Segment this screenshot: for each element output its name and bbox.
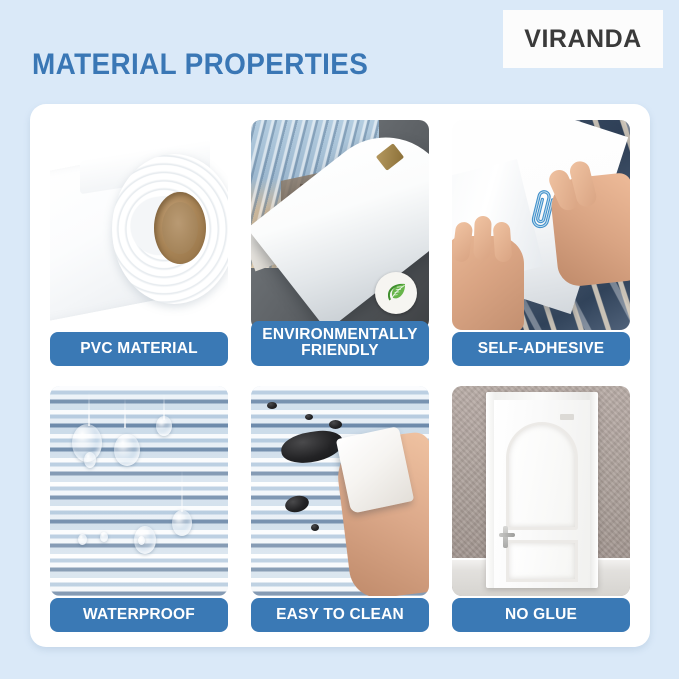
brand-logo-box: VIRANDA xyxy=(503,10,663,68)
pvc-core-inner-shape xyxy=(162,202,198,254)
water-droplet xyxy=(156,416,172,436)
feature-grid: PVC MATERIAL xyxy=(50,120,630,632)
feature-label-environmentally-friendly: ENVIRONMENTALLY FRIENDLY xyxy=(251,321,429,366)
feature-card-waterproof[interactable]: WATERPROOF xyxy=(50,386,228,632)
feature-label-self-adhesive: SELF-ADHESIVE xyxy=(452,332,630,366)
black-stain xyxy=(305,414,313,420)
feature-card-pvc-material[interactable]: PVC MATERIAL xyxy=(50,120,228,366)
droplet-trail xyxy=(88,392,90,426)
water-droplet xyxy=(78,534,87,545)
water-droplet xyxy=(100,532,108,542)
black-stain xyxy=(267,402,277,409)
feature-label-pvc-material: PVC MATERIAL xyxy=(50,332,228,366)
feature-card-easy-to-clean[interactable]: EASY TO CLEAN xyxy=(251,386,429,632)
easy-to-clean-image xyxy=(251,386,429,596)
feature-card-environmentally-friendly[interactable]: ENVIRONMENTALLY FRIENDLY xyxy=(251,120,429,366)
right-hand-shape xyxy=(549,172,630,288)
door-panel-lower-shape xyxy=(506,540,578,582)
feature-label-no-glue: NO GLUE xyxy=(452,598,630,632)
page-title: MATERIAL PROPERTIES xyxy=(32,48,368,82)
finger-shape xyxy=(473,216,492,261)
eco-wallpaper-image xyxy=(251,120,429,330)
door-handle-plate xyxy=(503,526,508,548)
door-sticker-shape xyxy=(560,414,574,420)
door-panel-upper-shape xyxy=(506,422,578,530)
feature-label-line-2: FRIENDLY xyxy=(301,342,379,359)
door-leaf-shape xyxy=(494,400,590,588)
feature-card-self-adhesive[interactable]: SELF-ADHESIVE xyxy=(452,120,630,366)
droplet-trail xyxy=(181,468,183,512)
self-adhesive-image xyxy=(452,120,630,330)
black-stain xyxy=(329,420,342,429)
feature-label-easy-to-clean: EASY TO CLEAN xyxy=(251,598,429,632)
feature-panel: PVC MATERIAL xyxy=(30,104,650,647)
feature-label-waterproof: WATERPROOF xyxy=(50,598,228,632)
waterproof-image xyxy=(50,386,228,596)
water-droplet xyxy=(172,510,192,536)
black-stain xyxy=(311,524,319,531)
feature-card-no-glue[interactable]: NO GLUE xyxy=(452,386,630,632)
water-droplet xyxy=(138,536,145,545)
leaf-icon xyxy=(375,272,417,314)
door-frame-shape xyxy=(486,392,598,588)
water-droplet xyxy=(114,434,140,466)
water-droplet xyxy=(84,452,96,468)
left-hand-shape xyxy=(452,236,524,330)
droplet-trail xyxy=(124,398,126,428)
no-glue-image xyxy=(452,386,630,596)
finger-shape xyxy=(493,221,513,262)
feature-label-line-1: ENVIRONMENTALLY xyxy=(262,326,417,343)
pvc-roll-image xyxy=(50,120,228,330)
blue-wood-texture xyxy=(50,386,228,596)
finger-shape xyxy=(452,221,473,263)
brand-name: VIRANDA xyxy=(524,25,641,54)
door-handle-icon xyxy=(499,533,515,537)
